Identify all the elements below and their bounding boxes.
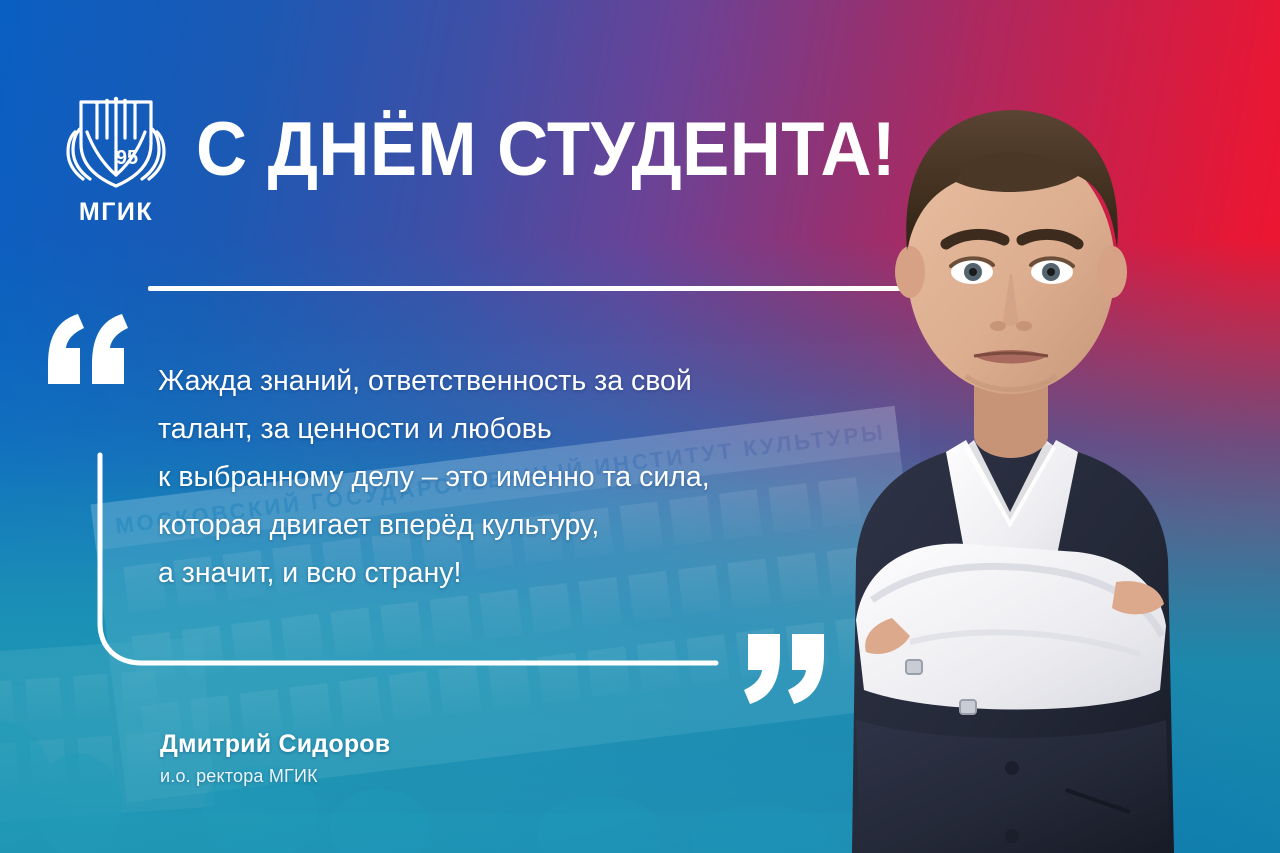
quote-line: талант, за ценности и любовь [158, 405, 858, 453]
logo-anniversary-number: 95 [116, 147, 138, 169]
attribution-role: и.о. ректора МГИК [160, 766, 390, 787]
poster-canvas: МОСКОВСКИЙ ГОСУДАРСТВЕННЫЙ ИНСТИТУТ КУЛЬ… [0, 0, 1280, 853]
attribution: Дмитрий Сидоров и.о. ректора МГИК [160, 730, 390, 787]
quote-line: к выбранному делу – это именно та сила, [158, 453, 858, 501]
mgik-logo: 95 МГИК [57, 80, 175, 225]
quote-line: Жажда знаний, ответственность за свой [158, 357, 858, 405]
quote-line: которая двигает вперёд культуру, [158, 501, 858, 549]
quote-text: Жажда знаний, ответственность за свой та… [158, 357, 858, 597]
quote-line: а значит, и всю страну! [158, 549, 858, 597]
attribution-name: Дмитрий Сидоров [160, 730, 390, 759]
shield-lyre-book-icon: 95 [57, 80, 175, 198]
logo-wordmark: МГИК [57, 198, 175, 227]
page-title: С ДНЁМ СТУДЕНТА! [196, 112, 896, 188]
divider-top-rule [148, 286, 956, 291]
